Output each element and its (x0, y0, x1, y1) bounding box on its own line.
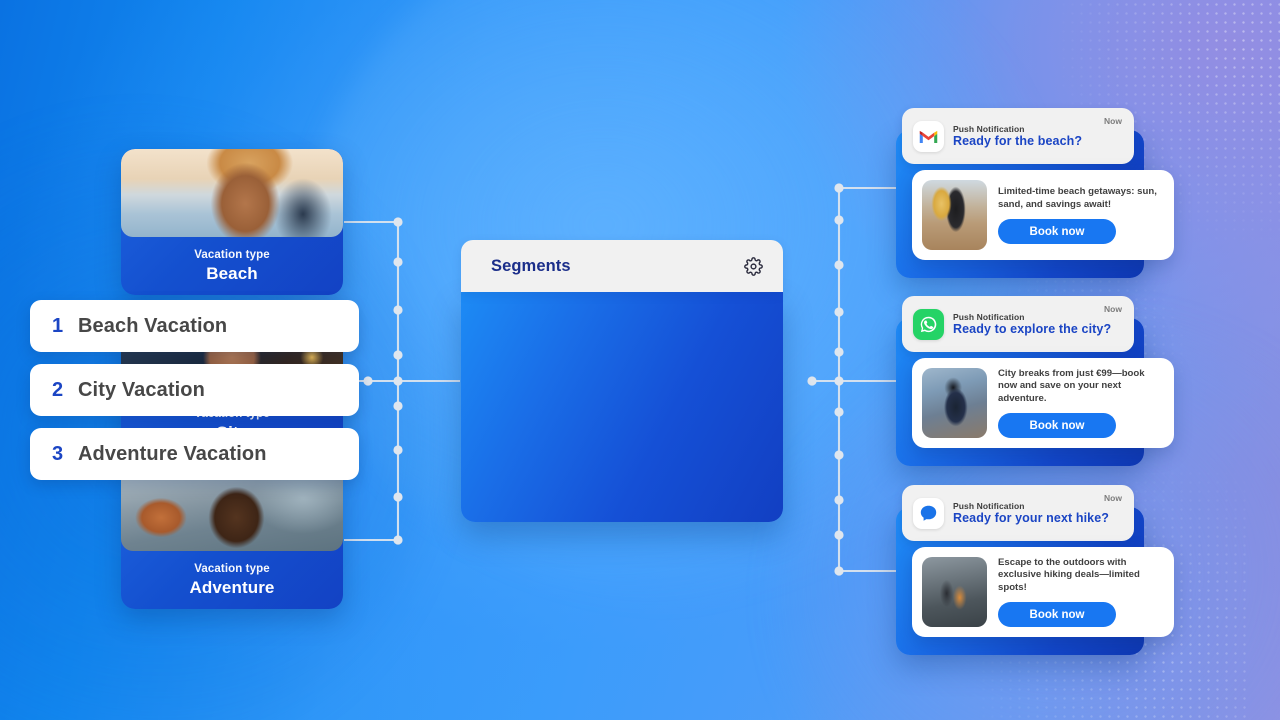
gear-icon[interactable] (744, 257, 763, 276)
vacation-card-beach-image (121, 149, 343, 237)
push-time-city: Now (1104, 304, 1122, 314)
book-now-button-city[interactable]: Book now (998, 413, 1116, 438)
push-header-hike-text: Push Notification Ready for your next hi… (953, 501, 1104, 526)
push-headline-city: Ready to explore the city? (953, 322, 1104, 337)
whatsapp-icon (913, 309, 944, 340)
segments-panel: Segments (452, 240, 812, 522)
push-header-beach[interactable]: Push Notification Ready for the beach? N… (902, 108, 1134, 164)
push-header-beach-text: Push Notification Ready for the beach? (953, 124, 1104, 149)
push-headline-beach: Ready for the beach? (953, 134, 1104, 149)
segments-panel-body (461, 292, 783, 522)
vacation-card-beach-kicker: Vacation type (194, 249, 269, 261)
push-card-hike[interactable]: Escape to the outdoors with exclusive hi… (912, 547, 1174, 637)
segment-row-3-number: 3 (52, 443, 78, 466)
push-thumb-hike (922, 557, 987, 627)
push-thumb-beach (922, 180, 987, 250)
segment-row-1-number: 1 (52, 315, 78, 338)
messages-icon (913, 498, 944, 529)
push-card-city[interactable]: City breaks from just €99—book now and s… (912, 358, 1174, 448)
segment-row-2-number: 2 (52, 379, 78, 402)
vacation-card-adventure-meta: Vacation type Adventure (121, 551, 343, 609)
push-body-city: City breaks from just €99—book now and s… (998, 368, 1164, 439)
vacation-card-beach-value: Beach (206, 265, 258, 283)
vacation-card-beach[interactable]: Vacation type Beach (121, 149, 343, 295)
push-body-text-city: City breaks from just €99—book now and s… (998, 368, 1164, 406)
book-now-button-beach[interactable]: Book now (998, 219, 1116, 244)
vacation-card-adventure-kicker: Vacation type (194, 563, 269, 575)
push-time-beach: Now (1104, 116, 1122, 126)
push-kicker-beach: Push Notification (953, 124, 1104, 134)
push-body-text-beach: Limited-time beach getaways: sun, sand, … (998, 186, 1164, 211)
push-time-hike: Now (1104, 493, 1122, 503)
vacation-card-beach-meta: Vacation type Beach (121, 237, 343, 295)
segment-row-3[interactable]: 3 Adventure Vacation (30, 428, 359, 480)
segment-row-1-label: Beach Vacation (78, 315, 227, 338)
push-headline-hike: Ready for your next hike? (953, 511, 1104, 526)
push-card-beach[interactable]: Limited-time beach getaways: sun, sand, … (912, 170, 1174, 260)
push-header-hike[interactable]: Push Notification Ready for your next hi… (902, 485, 1134, 541)
push-body-beach: Limited-time beach getaways: sun, sand, … (998, 186, 1164, 244)
segment-row-3-label: Adventure Vacation (78, 443, 267, 466)
book-now-button-hike[interactable]: Book now (998, 602, 1116, 627)
gmail-icon (913, 121, 944, 152)
segment-row-2-label: City Vacation (78, 379, 205, 402)
segments-title: Segments (491, 257, 571, 276)
segments-panel-header: Segments (461, 240, 783, 292)
segment-row-1[interactable]: 1 Beach Vacation (30, 300, 359, 352)
push-body-hike: Escape to the outdoors with exclusive hi… (998, 557, 1164, 628)
push-body-text-hike: Escape to the outdoors with exclusive hi… (998, 557, 1164, 595)
push-kicker-city: Push Notification (953, 312, 1104, 322)
segments-row-list: 1 Beach Vacation 2 City Vacation 3 Adven… (30, 300, 360, 492)
push-header-city-text: Push Notification Ready to explore the c… (953, 312, 1104, 337)
segment-row-2[interactable]: 2 City Vacation (30, 364, 359, 416)
vacation-card-adventure-value: Adventure (190, 579, 275, 597)
push-header-city[interactable]: Push Notification Ready to explore the c… (902, 296, 1134, 352)
push-thumb-city (922, 368, 987, 438)
push-kicker-hike: Push Notification (953, 501, 1104, 511)
diagram-canvas: Vacation type Beach Vacation type City V… (0, 0, 1280, 720)
